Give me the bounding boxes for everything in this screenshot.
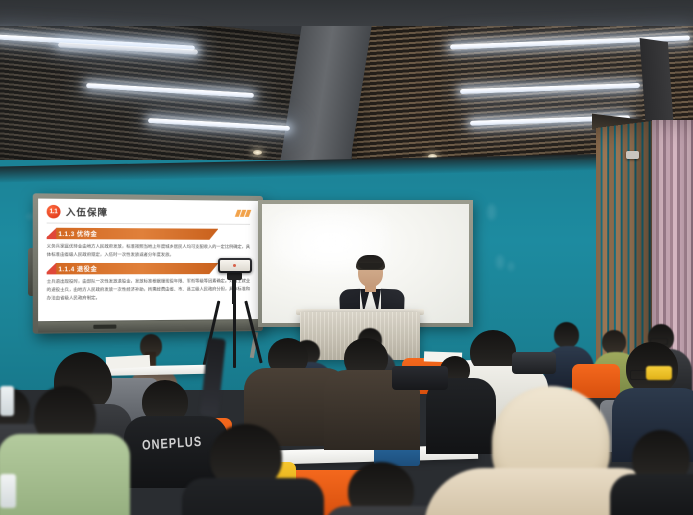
classroom-lecture-photo: 1.1 入伍保障 1.1.3 优待金 义务兵家庭优待金由地方人民政府发放，标准按… [0,0,693,515]
slide-section-banner: 1.1.3 优待金 [47,228,219,240]
slide-header: 1.1 入伍保障 [47,205,250,220]
wall-scuff [508,262,514,271]
slide-number-badge: 1.1 [47,205,61,219]
ceiling [0,0,693,172]
water-bottle [0,474,16,508]
slide-section-banner: 1.1.4 退役金 [47,263,219,274]
smartphone-recording[interactable] [218,258,252,273]
wall-scuff [496,255,504,269]
slide-title: 入伍保障 [66,205,108,219]
student-head [554,322,579,348]
water-bottle [0,386,14,416]
banner-flag-icon [47,228,57,239]
desk-bag [392,366,448,390]
tripod-head [227,272,242,280]
slide-section-heading: 1.1.4 退役金 [56,264,97,273]
student-jacket [182,478,324,515]
slide-divider [47,223,250,225]
tripod-leg [244,301,262,364]
display-brand-logo [93,325,116,329]
wall-scuff [487,204,496,220]
slide-decor-chevrons [236,210,250,217]
record-indicator-icon [233,264,236,267]
desk-bag [512,352,556,374]
speaker-hair [356,255,385,270]
ceiling-beam-top [0,0,693,26]
ceiling-downlight [253,150,262,155]
student-jacket [610,474,693,515]
tripod-center-column [232,276,236,304]
desk-papers [106,355,151,369]
student-head [602,330,626,354]
tripod-leg [233,300,236,368]
slide-section-body: 义务兵家庭优待金由地方人民政府发放，标准按照当地上年度城乡居民人均可支配收入的一… [47,242,250,259]
student-jacket [0,434,130,515]
banner-flag-icon [47,263,57,274]
slide-section-heading: 1.1.3 优待金 [56,229,97,239]
wall-camera-icon [626,151,639,159]
desk-item-yellow [646,366,672,380]
